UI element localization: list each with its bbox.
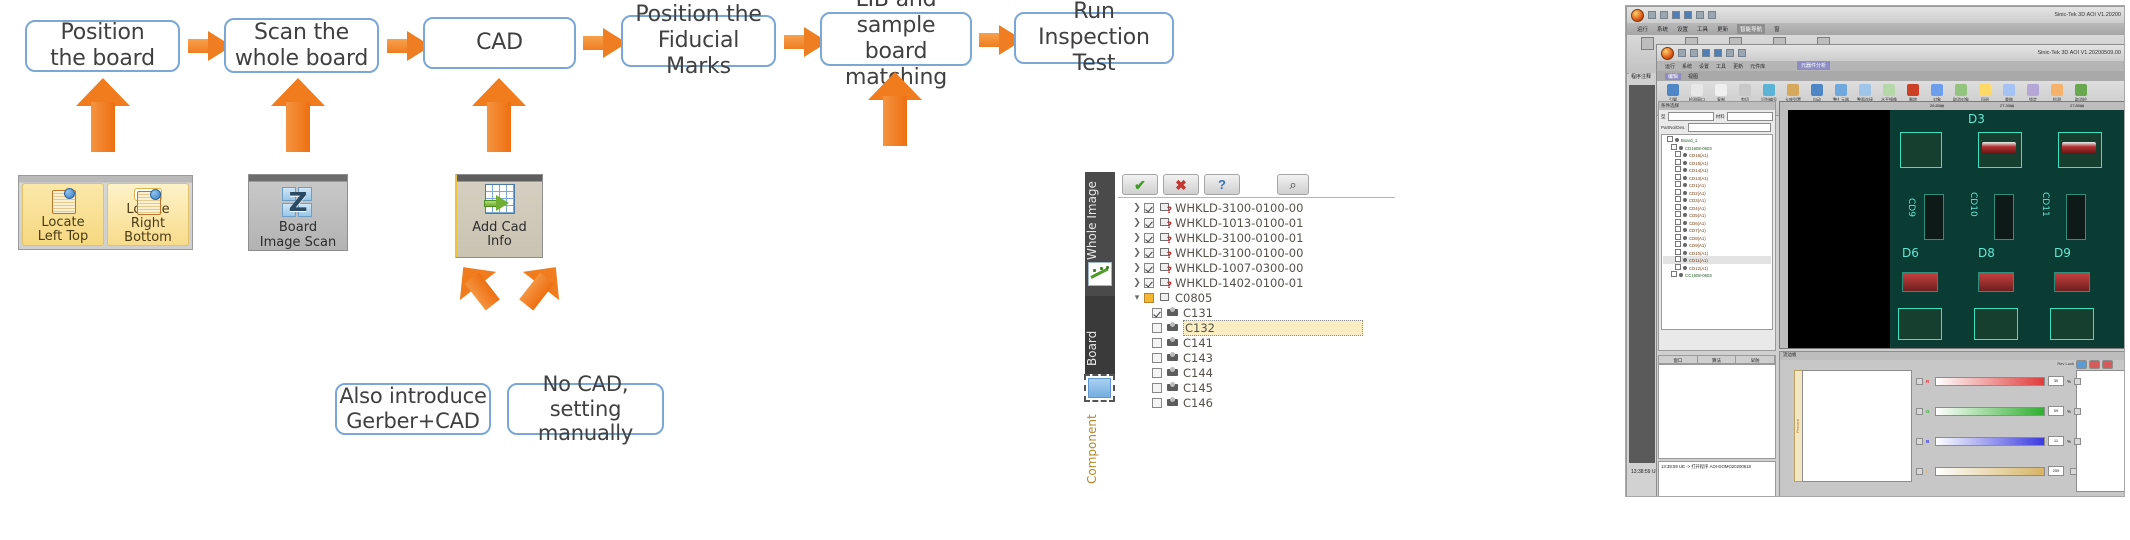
tree-row-checkbox[interactable] (1152, 338, 1162, 348)
front-new-icon[interactable] (1678, 49, 1686, 57)
ruler-tick-3: 27.80㎜ (2070, 103, 2084, 109)
tree-row-label: C132 (1183, 320, 1363, 336)
front-tree-item[interactable]: CD2(A1) (1663, 189, 1771, 197)
locate-ribbon-group: Locate Left Top Locate Right Bottom (18, 175, 193, 250)
locate-left-top-label: Locate Left Top (38, 216, 89, 244)
silk-cd11: CD11 (2040, 192, 2050, 217)
front-save-as-icon[interactable] (1714, 49, 1722, 57)
note-gerber-cad[interactable]: Also introduce Gerber+CAD (335, 383, 491, 435)
chevron-right-icon[interactable]: ❯ (1118, 233, 1144, 243)
clear-button[interactable] (2102, 360, 2113, 369)
front-tree-item[interactable]: CD15(A1) (1663, 159, 1771, 167)
front-tree-item[interactable]: CD14(A1) (1663, 166, 1771, 174)
new-icon[interactable] (1648, 11, 1656, 19)
tree-rows: ❯?WHKLD-3100-0100-00❯?WHKLD-1013-0100-01… (1118, 198, 1395, 410)
component-tree-panel: Whole Image Board Component ✔ ✖ ? ⌕ (1085, 172, 1395, 492)
filter-select-type[interactable] (1668, 112, 1714, 121)
front-tree-item[interactable]: CD6(A1) (1663, 219, 1771, 227)
options-icon[interactable] (1708, 11, 1716, 19)
front-mini-tree: Board_1CD1608-0603CD16(A1)CD15(A1)CD14(A… (1661, 134, 1773, 330)
package-icon (1166, 382, 1179, 393)
uparrow-to-cad-icon (472, 78, 526, 150)
tree-row-label: WHKLD-1007-0300-00 (1175, 261, 1303, 275)
pcb-image-viewport[interactable]: 26.80㎜ 27.30㎜ 27.80㎜ D3 CD9 CD10 CD11 D6… (1779, 101, 2125, 349)
front-tree-group[interactable]: CD1608-0603 (1663, 144, 1771, 152)
silk-d9: D9 (2054, 246, 2071, 260)
note-no-cad-manual[interactable]: No CAD, setting manually (507, 383, 664, 435)
package-icon (1166, 367, 1179, 378)
ribbon-button-icon (2051, 84, 2063, 96)
grid-column-header[interactable]: 算法 (1698, 356, 1737, 363)
ribbon-button-icon (1883, 84, 1895, 96)
silk-d8: D8 (1978, 246, 1995, 260)
channel-unit: % (2067, 439, 2071, 444)
tree-row-checkbox[interactable] (1152, 398, 1162, 408)
channel-lock-checkbox[interactable] (2074, 408, 2081, 415)
flow-step-lib-matching[interactable]: LIB and sample board matching (820, 12, 972, 66)
front-settings-icon[interactable] (1726, 49, 1734, 57)
vertical-tab-strip: Whole Image Board (1085, 172, 1115, 374)
front-tab[interactable]: 编辑 (1665, 73, 1681, 80)
filter-label-partno: PartNo/Des. (1661, 125, 1686, 130)
accept-button[interactable]: ✔ (1122, 174, 1158, 195)
save-as-icon[interactable] (1684, 11, 1692, 19)
grid-column-header[interactable]: 窗口 (1659, 356, 1698, 363)
rev-lock-label: Rev Lock (2057, 361, 2074, 366)
ribbon-button-icon (1859, 84, 1871, 96)
settings-icon[interactable] (1696, 11, 1704, 19)
front-tree-item[interactable]: CD1(A1) (1663, 181, 1771, 189)
back-window-menubar: 运行系统设置工具更新智能导航窗 (1627, 23, 2125, 35)
channel-slider-row[interactable]: I259 (1916, 464, 2077, 478)
channel-slider[interactable] (1935, 377, 2045, 386)
front-grid-body (1658, 364, 1776, 459)
front-tree-root[interactable]: Board_1 (1663, 136, 1771, 144)
tree-toolbar: ✔ ✖ ? ⌕ (1118, 172, 1395, 198)
ribbon-button-icon (1667, 84, 1679, 96)
front-tree-group2[interactable]: CC1608-0603 (1663, 271, 1771, 279)
tree-row[interactable]: C131 (1118, 305, 1395, 320)
chip-question-icon: ? (1158, 232, 1171, 243)
package-icon (1166, 397, 1179, 408)
back-menu-item[interactable]: 窗 (1774, 25, 1780, 33)
reject-button[interactable]: ✖ (1163, 174, 1199, 195)
flow-step-scan-board[interactable]: Scan the whole board (224, 18, 379, 73)
front-tree-item[interactable]: CD13(A1) (1663, 174, 1771, 182)
tree-row[interactable]: ❯?WHKLD-3100-0100-00 (1118, 245, 1395, 260)
ribbon-button-icon (1691, 84, 1703, 96)
channel-value[interactable]: 30 (2048, 376, 2064, 386)
uparrow-to-lib-matching-icon (868, 72, 922, 144)
tree-body: ✔ ✖ ? ⌕ ❯?WHKLD-3100-0100-00❯?WHKLD-1013… (1118, 172, 1395, 492)
chip-question-icon: ? (1158, 217, 1171, 228)
tree-row-checkbox[interactable] (1152, 368, 1162, 378)
front-menu-item[interactable]: 元件库 (1750, 63, 1765, 70)
front-open-folder-icon[interactable] (1690, 49, 1698, 57)
channel-unit: % (2067, 379, 2071, 384)
tree-row[interactable]: C141 (1118, 335, 1395, 350)
component-square-icon (1088, 378, 1111, 398)
locate-right-bottom-button[interactable]: Locate Right Bottom (107, 183, 189, 246)
channel-label: B (1926, 439, 1932, 444)
tree-row[interactable]: ❯?WHKLD-1013-0100-01 (1118, 215, 1395, 230)
front-tree-item[interactable]: CD5(A1) (1663, 211, 1771, 219)
chevron-right-icon[interactable]: ❯ (1118, 218, 1144, 228)
question-icon: ? (1218, 178, 1226, 191)
uparrow-to-position-board-icon (76, 78, 130, 150)
note-pin-bottomright-icon (134, 188, 162, 201)
front-tree-item[interactable]: CD16(A1) (1663, 151, 1771, 159)
ribbon-button-icon (2027, 84, 2039, 96)
front-tree-item[interactable]: CD12(A1) (1663, 264, 1771, 272)
front-tree-item[interactable]: CD10(A1) (1663, 249, 1771, 257)
tab-component-container[interactable]: Component (1085, 374, 1115, 494)
ribbon-button-icon (2003, 84, 2015, 96)
bottom-analysis-panel: 流边板 Percent Rev Lock R30%G59%B11%I259 (1779, 351, 2125, 497)
channel-label: I (1926, 469, 1932, 474)
check-icon: ✔ (1134, 178, 1146, 192)
tree-row-checkbox[interactable] (1144, 218, 1154, 228)
tree-row[interactable]: ❯?WHKLD-3100-0100-00 (1118, 200, 1395, 215)
process-flow-diagram: Position the board Scan the whole board … (0, 0, 1220, 120)
ribbon-button-icon (1907, 84, 1919, 96)
channel-unit: % (2067, 409, 2071, 414)
partno-search-input[interactable] (1688, 123, 1771, 132)
flow-step-run-inspection[interactable]: Run Inspection Test (1014, 12, 1174, 64)
package-icon (1166, 337, 1179, 348)
front-log-line: 13:38:59 UE -> 打开程序 AOI-DOMO20200618 (1658, 461, 1776, 497)
grid-column-header[interactable]: 早防 (1736, 356, 1775, 363)
channel-value[interactable]: 59 (2048, 406, 2064, 416)
silk-cd9: CD9 (1906, 198, 1916, 217)
filter-label-type: 型 (1661, 114, 1666, 120)
back-left-rail (1629, 73, 1655, 463)
tree-row[interactable]: C146 (1118, 395, 1395, 410)
tree-row-label: C145 (1183, 381, 1213, 395)
close-icon: ✖ (1175, 178, 1187, 192)
tree-row-label: WHKLD-3100-0100-00 (1175, 201, 1303, 215)
back-ribbon-button[interactable] (1637, 35, 1657, 51)
channel-lock-checkbox[interactable] (2070, 468, 2077, 475)
ribbon-button-icon (1955, 84, 1967, 96)
delete-button[interactable] (2089, 360, 2100, 369)
ribbon-button-icon (1715, 84, 1727, 96)
channel-slider-row[interactable]: B11% (1916, 434, 2081, 448)
chevron-right-icon[interactable]: ❯ (1118, 278, 1144, 288)
front-tab[interactable]: 视图 (1688, 73, 1698, 80)
highlight-tab[interactable]: 元器件分析 (1797, 61, 1830, 70)
front-menu-item[interactable]: 设置 (1699, 63, 1709, 70)
ribbon-button-icon (1787, 84, 1799, 96)
z-scan-glyph: Z (284, 189, 312, 217)
channel-checkbox[interactable] (1916, 468, 1923, 475)
tree-row-label: C146 (1183, 396, 1213, 410)
front-grid-header: 窗口算法早防 (1658, 355, 1776, 364)
channel-value[interactable]: 11 (2048, 436, 2064, 446)
chevron-right-icon[interactable]: ❯ (1118, 263, 1144, 273)
back-menu-item[interactable]: 系统 (1657, 25, 1668, 33)
package-icon (1166, 307, 1179, 318)
component-analysis-window: Sinic-Tek 3D AOI V1.20200509.00 元器件分析 运行… (1656, 44, 2125, 497)
right-list-buttons (2076, 360, 2113, 369)
channel-slider[interactable] (1935, 467, 2045, 476)
tree-row-label: WHKLD-1402-0100-01 (1175, 276, 1303, 290)
channel-value[interactable]: 259 (2048, 466, 2064, 476)
back-menu-item[interactable]: 更新 (1717, 25, 1728, 33)
channel-label: G (1926, 409, 1932, 414)
front-window-menubar: 元器件分析 运行系统设置工具更新元件库 (1657, 61, 2125, 71)
tree-row-label: WHKLD-3100-0100-00 (1175, 246, 1303, 260)
package-icon (1166, 352, 1179, 363)
front-save-icon[interactable] (1702, 49, 1710, 57)
add-cad-table-icon (482, 184, 518, 218)
flow-step-cad[interactable]: CAD (423, 17, 576, 69)
ribbon-button-icon (1835, 84, 1847, 96)
add-cad-info-ribbon-group: Add Cad Info (455, 174, 543, 258)
channel-checkbox[interactable] (1916, 438, 1923, 445)
histogram-box[interactable] (1802, 370, 1912, 482)
right-list-box[interactable] (2076, 370, 2125, 492)
tree-row-checkbox[interactable] (1144, 233, 1154, 243)
tree-row-checkbox[interactable] (1152, 383, 1162, 393)
diag-arrow-right-icon (508, 253, 574, 319)
silk-cd10: CD10 (1968, 192, 1978, 217)
front-menu-item[interactable]: 更新 (1733, 63, 1743, 70)
flow-step-position-board[interactable]: Position the board (25, 20, 180, 72)
front-options-icon[interactable] (1738, 49, 1746, 57)
tree-row-checkbox[interactable] (1144, 203, 1154, 213)
channel-checkbox[interactable] (1916, 408, 1923, 415)
front-window-tabs: 编辑视图 (1657, 71, 2125, 81)
ribbon-button-icon (1979, 84, 1991, 96)
back-window-titlebar: Sinic-Tek 3D AOI V1.20200 (1627, 7, 2125, 23)
front-app-logo-icon (1661, 47, 1674, 60)
package-icon (1166, 322, 1179, 333)
chip-question-icon: ? (1158, 202, 1171, 213)
chevron-down-icon[interactable]: ▾ (1118, 293, 1144, 303)
channel-slider[interactable] (1935, 407, 2045, 416)
back-menu-item[interactable]: 设置 (1677, 25, 1688, 33)
channel-label: R (1926, 379, 1932, 384)
open-folder-icon[interactable] (1660, 11, 1668, 19)
tree-row[interactable]: C143 (1118, 350, 1395, 365)
front-app-title: Sinic-Tek 3D AOI V1.20200509.00 (2038, 50, 2121, 56)
back-menu-item[interactable]: 智能导航 (1737, 24, 1765, 34)
tree-row-label: C131 (1183, 306, 1213, 320)
ruler-left (1780, 110, 1788, 349)
front-tree-item[interactable]: CD8(A1) (1663, 234, 1771, 242)
board-image-scan-label[interactable]: Board Image Scan (260, 221, 336, 250)
locate-left-top-button[interactable]: Locate Left Top (22, 183, 104, 246)
silk-d3: D3 (1968, 112, 1985, 126)
pcb-photo: D3 CD9 CD10 CD11 D6 D8 D9 (1890, 110, 2125, 349)
tree-row-label: C143 (1183, 351, 1213, 365)
chip-question-icon: ? (1158, 262, 1171, 273)
tree-row[interactable]: ❯?WHKLD-1007-0300-00 (1118, 260, 1395, 275)
front-menu-item[interactable]: 工具 (1716, 63, 1726, 70)
add-button[interactable] (2076, 360, 2087, 369)
front-menu-item[interactable]: 运行 (1665, 63, 1675, 70)
filter-select-material[interactable] (1727, 112, 1773, 121)
channel-slider-row[interactable]: G59% (1916, 404, 2081, 418)
z-scan-icon: Z (282, 187, 314, 218)
app-logo-icon (1631, 9, 1644, 22)
chip-icon (1158, 292, 1171, 303)
back-menu-item[interactable]: 运行 (1637, 25, 1648, 33)
front-panel-title: 条件选择 (1659, 102, 1775, 110)
ribbon-button-icon (1763, 84, 1775, 96)
ruler-tick-2: 27.30㎜ (2000, 103, 2014, 109)
tree-row-checkbox[interactable] (1144, 293, 1154, 303)
channel-lock-checkbox[interactable] (2074, 378, 2081, 385)
uparrow-to-scan-board-icon (271, 78, 325, 150)
tree-row-checkbox[interactable] (1152, 323, 1162, 333)
channel-slider[interactable] (1935, 437, 2045, 446)
tree-row[interactable]: ❯?WHKLD-3100-0100-01 (1118, 230, 1395, 245)
channel-checkbox[interactable] (1916, 378, 1923, 385)
ruler-top: 26.80㎜ 27.30㎜ 27.80㎜ (1780, 102, 2125, 110)
channel-lock-checkbox[interactable] (2074, 438, 2081, 445)
channel-slider-row[interactable]: R30% (1916, 374, 2081, 388)
ribbon-button-icon (1739, 84, 1751, 96)
note-pin-topright-icon (50, 188, 76, 214)
back-app-title: Sinic-Tek 3D AOI V1.20200 (2054, 12, 2121, 18)
tree-row[interactable]: C145 (1118, 380, 1395, 395)
chevron-right-icon[interactable]: ❯ (1118, 203, 1144, 213)
tree-row-checkbox[interactable] (1152, 353, 1162, 363)
bottom-panel-title: 流边板 (1780, 352, 2125, 360)
front-window-titlebar: Sinic-Tek 3D AOI V1.20200509.00 (1657, 45, 2125, 61)
silk-d6: D6 (1902, 246, 1919, 260)
chip-question-icon: ? (1158, 247, 1171, 258)
ruler-tick-1: 26.80㎜ (1930, 103, 1944, 109)
tree-row[interactable]: C132 (1118, 320, 1395, 335)
aoi-application-screenshot: Sinic-Tek 3D AOI V1.20200 运行系统设置工具更新智能导航… (1625, 5, 2125, 497)
filter-label-material: 材料 (1716, 114, 1725, 120)
tree-row-label: C144 (1183, 366, 1213, 380)
tree-row-label: C141 (1183, 336, 1213, 350)
filter-row-type: 型 材料 (1659, 110, 1775, 123)
tree-row[interactable]: ▾C0805 (1118, 290, 1395, 305)
back-menu-item[interactable]: 工具 (1697, 25, 1708, 33)
front-tree-item[interactable]: CD7(A1) (1663, 226, 1771, 234)
unknown-button[interactable]: ? (1204, 174, 1240, 195)
chevron-right-icon[interactable]: ❯ (1118, 248, 1144, 258)
zoom-button[interactable]: ⌕ (1277, 174, 1309, 195)
ribbon-button-icon (2075, 84, 2087, 96)
tree-row-checkbox[interactable] (1152, 308, 1162, 318)
tree-row[interactable]: ❯?WHKLD-1402-0100-01 (1118, 275, 1395, 290)
save-icon[interactable] (1672, 11, 1680, 19)
diag-arrow-left-icon (445, 253, 511, 319)
tree-row[interactable]: C144 (1118, 365, 1395, 380)
front-left-tree-panel: 条件选择 型 材料 PartNo/Des. Board_1CD1608-0603… (1658, 101, 1776, 351)
flow-step-fiducial-marks[interactable]: Position the Fiducial Marks (621, 15, 776, 67)
tab-whole-image[interactable]: Whole Image (1085, 172, 1115, 270)
front-tree-item[interactable]: CD11(A1) (1663, 256, 1771, 264)
board-image-scan-ribbon-group: Z Board Image Scan (248, 174, 348, 251)
tree-row-checkbox[interactable] (1144, 248, 1154, 258)
ribbon-button-icon (1811, 84, 1823, 96)
chip-question-icon: ? (1158, 277, 1171, 288)
front-menu-item[interactable]: 系统 (1682, 63, 1692, 70)
front-tree-item[interactable]: CD3(A1) (1663, 196, 1771, 204)
tree-row-label: WHKLD-1013-0100-01 (1175, 216, 1303, 230)
board-chart-icon (1088, 262, 1112, 286)
tree-row-checkbox[interactable] (1144, 278, 1154, 288)
magnifier-icon: ⌕ (1289, 178, 1296, 191)
tree-row-checkbox[interactable] (1144, 263, 1154, 273)
tab-component[interactable]: Component (1085, 406, 1115, 492)
front-tree-item[interactable]: CD9(A1) (1663, 241, 1771, 249)
tree-row-label: C0805 (1175, 291, 1212, 305)
tree-row-label: WHKLD-3100-0100-01 (1175, 231, 1303, 245)
front-tree-item[interactable]: CD4(A1) (1663, 204, 1771, 212)
ribbon-button-icon (1931, 84, 1943, 96)
add-cad-info-label[interactable]: Add Cad Info (472, 221, 527, 250)
